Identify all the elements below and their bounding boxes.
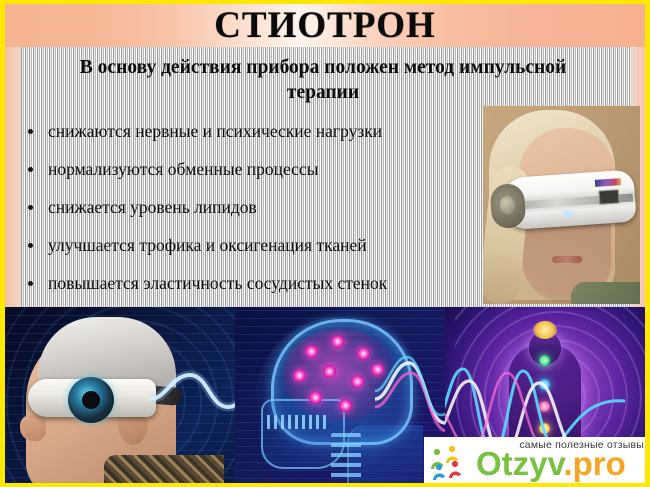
slide-title: СТИОТРОН <box>0 3 650 47</box>
energy-wave-graphic <box>150 365 235 425</box>
neuron-node <box>357 347 370 360</box>
slide-border-left <box>0 0 5 487</box>
neuron-node <box>293 369 306 382</box>
presentation-slide: СТИОТРОН В основу действия прибора полож… <box>0 0 650 487</box>
neuron-node <box>339 399 352 412</box>
watermark-panel: самые полезные отзывы Otzyv.pro <box>424 437 650 484</box>
brand-tld-orange: .pro <box>563 445 625 482</box>
mouth-shape <box>552 256 582 263</box>
spine-shape <box>331 427 361 487</box>
brand-name-green: Otzyv <box>476 445 563 482</box>
crown-chakra <box>533 321 557 339</box>
headset-side-pad <box>490 183 527 229</box>
slide-border-right <box>645 0 650 487</box>
neuron-node <box>323 365 336 378</box>
people-cluster-icon <box>428 443 474 481</box>
content-left-accent <box>5 47 21 309</box>
title-banner: СТИОТРОН <box>0 0 650 47</box>
content-heading: В основу действия прибора положен метод … <box>48 55 598 105</box>
shirt-shape <box>571 282 640 304</box>
woman-headset-photo <box>483 106 640 304</box>
teeth-shape <box>267 415 329 429</box>
man-headset-photo <box>0 307 235 487</box>
energy-wave-graphic <box>375 343 445 443</box>
neuron-node <box>351 375 364 388</box>
headset-port <box>599 189 620 204</box>
headset-dial <box>68 377 114 423</box>
neuron-node <box>331 335 344 348</box>
slide-border-bottom <box>0 483 650 487</box>
slide-border-top <box>0 0 650 4</box>
neuron-node <box>309 391 322 404</box>
brain-xray-illustration <box>235 307 445 487</box>
watermark-brand: Otzyv.pro <box>476 447 626 480</box>
neuron-node <box>305 345 318 358</box>
bottom-image-band: самые полезные отзывы Otzyv.pro <box>0 307 650 487</box>
nose-shape <box>20 415 46 441</box>
